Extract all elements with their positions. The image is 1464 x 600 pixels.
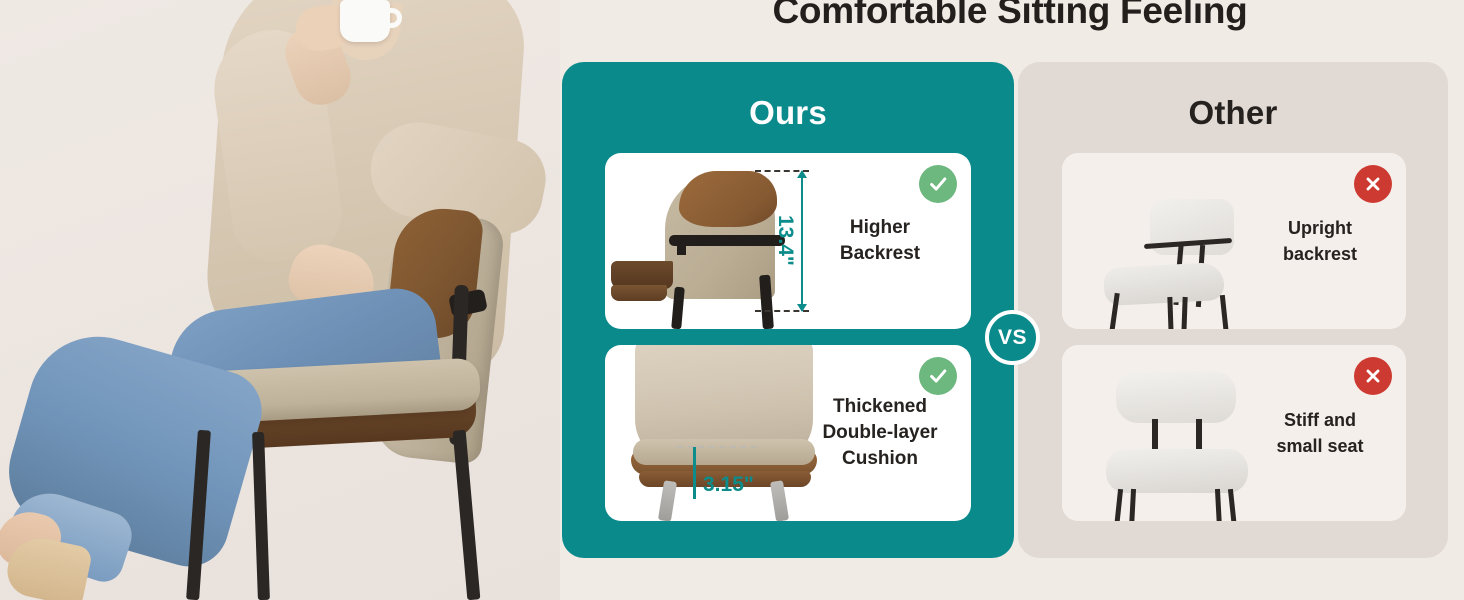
chair-seat — [1103, 262, 1225, 306]
lifestyle-photo — [0, 0, 560, 600]
dimension-value-backrest: 13.4" — [773, 215, 797, 266]
other-card-2-line-2: small seat — [1276, 436, 1363, 456]
other-chair-illustration-1 — [1086, 173, 1276, 329]
ours-card-1-line-2: Backrest — [840, 243, 920, 264]
stool-leg-middle — [252, 432, 270, 600]
ours-card-1-label: Higher Backrest — [805, 215, 955, 267]
chair-backrest — [1116, 371, 1236, 423]
panel-ours: Ours 13.4" — [562, 62, 1014, 558]
other-card-2-line-1: Stiff and — [1284, 410, 1356, 430]
cushion-dimension-line — [693, 447, 696, 499]
chair-leg-left — [671, 287, 685, 329]
chair-leg-d — [1228, 489, 1237, 521]
panel-ours-heading: Ours — [562, 62, 1014, 132]
x-icon — [1354, 357, 1392, 395]
cushion-dimension-guide — [677, 446, 757, 448]
chair-post-left — [677, 241, 686, 255]
cushion-fabric-layer — [633, 439, 815, 465]
chair-post-b — [1196, 419, 1202, 453]
x-icon — [1354, 165, 1392, 203]
other-card-upright-backrest[interactable]: Upright backrest — [1062, 153, 1406, 329]
ours-card-thickened-cushion[interactable]: 3.15" Thickened Double-layer Cushion — [605, 345, 971, 521]
ours-card-1-line-1: Higher — [850, 217, 910, 238]
dimension-value-cushion: 3.15" — [703, 473, 754, 497]
chair-seat-side-lower — [611, 285, 667, 301]
chair-back-leather — [679, 171, 777, 227]
chair-crossbar — [669, 235, 785, 246]
chair-leg-c — [1215, 489, 1222, 521]
page-title: Comfortable Sitting Feeling — [556, 0, 1464, 34]
chair-leg-b — [1129, 489, 1136, 521]
chair-seat — [1106, 449, 1248, 493]
chair-post-a — [1152, 419, 1158, 453]
chair-leg-a — [1114, 489, 1123, 521]
chair-leg-c — [1181, 297, 1187, 329]
other-card-stiff-small-seat[interactable]: Stiff and small seat — [1062, 345, 1406, 521]
panel-other-heading: Other — [1018, 62, 1448, 132]
other-card-1-line-1: Upright — [1288, 218, 1352, 238]
vs-badge: VS — [985, 310, 1040, 365]
comparison-infographic: Comfortable Sitting Feeling Ours — [0, 0, 1464, 600]
coffee-cup — [340, 0, 390, 42]
dimension-arrow-vertical — [801, 171, 803, 311]
ours-card-2-line-2: Double-layer — [822, 422, 937, 443]
check-icon — [919, 165, 957, 203]
check-icon — [919, 357, 957, 395]
ours-card-higher-backrest[interactable]: 13.4" Higher Backrest — [605, 153, 971, 329]
other-card-1-line-2: backrest — [1283, 244, 1357, 264]
ours-card-2-label: Thickened Double-layer Cushion — [805, 394, 955, 472]
other-card-1-label: Upright backrest — [1250, 215, 1390, 267]
ours-card-2-line-3: Cushion — [842, 448, 918, 469]
chair-leg-d — [1220, 295, 1229, 329]
panel-other: Other — [1018, 62, 1448, 558]
ours-card-2-line-1: Thickened — [833, 396, 927, 417]
other-card-2-label: Stiff and small seat — [1250, 407, 1390, 459]
